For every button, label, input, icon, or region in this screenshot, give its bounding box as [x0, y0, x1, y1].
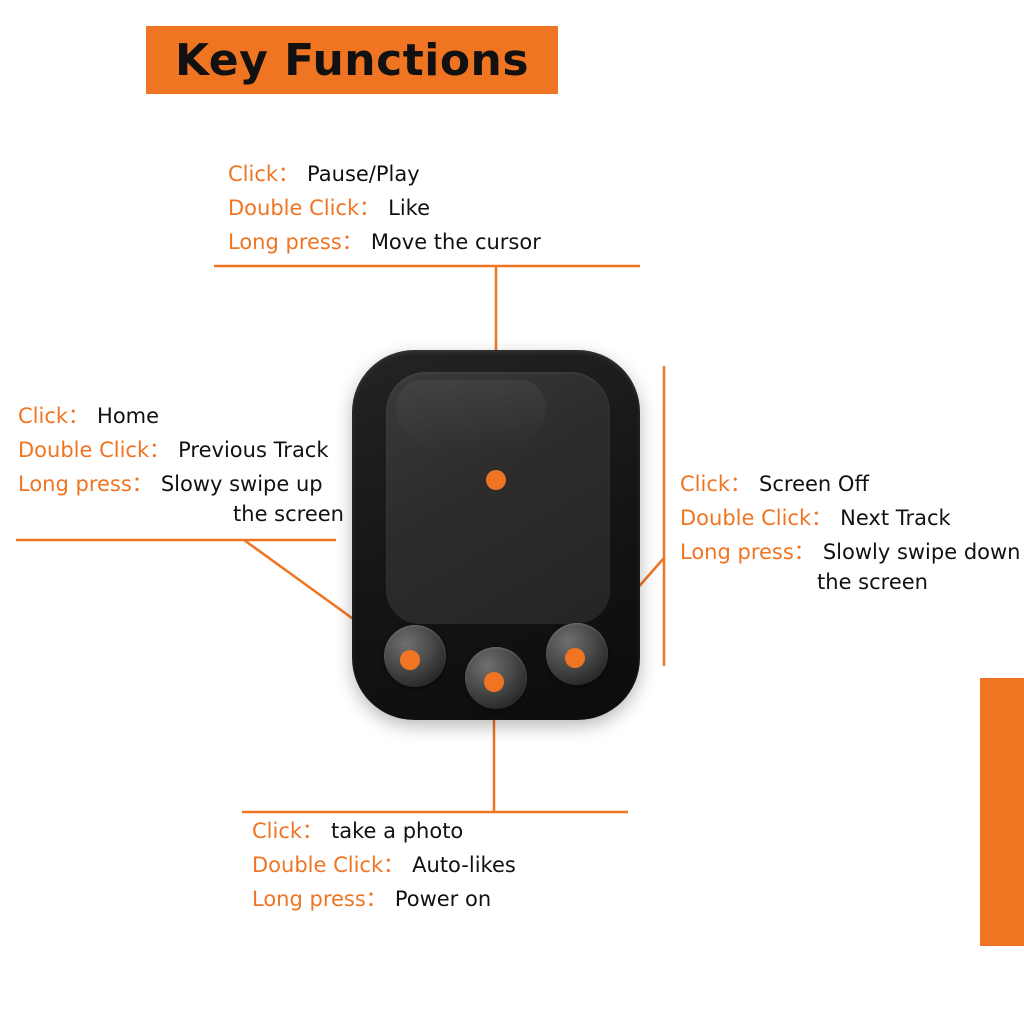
right-edge-accent-strip — [980, 678, 1024, 946]
touch-screen-area[interactable] — [386, 372, 610, 624]
bluetooth-remote-controller — [352, 350, 640, 720]
callout-value: Like — [388, 196, 430, 220]
touchpad-callout: Click： Pause/Play Double Click： Like Lon… — [228, 158, 541, 260]
callout-row: Long press： Slowy swipe up — [18, 468, 344, 498]
callout-label: Double Click： — [252, 849, 404, 879]
callout-row: Click： Screen Off — [680, 468, 1020, 498]
page-title-banner: Key Functions — [146, 26, 558, 94]
right-button-callout: Click： Screen Off Double Click： Next Tra… — [680, 468, 1020, 594]
callout-label: Click： — [228, 158, 299, 188]
callout-label: Double Click： — [18, 434, 170, 464]
callout-row: Click： Home — [18, 400, 344, 430]
left-button-callout: Click： Home Double Click： Previous Track… — [18, 400, 344, 526]
callout-label: Long press： — [18, 468, 153, 498]
callout-value: Next Track — [840, 506, 951, 530]
callout-row: Double Click： Next Track — [680, 502, 1020, 532]
callout-row: Long press： Move the cursor — [228, 226, 541, 256]
callout-value: Pause/Play — [307, 162, 420, 186]
callout-label: Click： — [252, 815, 323, 845]
left-button-anchor-dot — [400, 650, 420, 670]
callout-value: Home — [97, 404, 159, 428]
callout-label: Long press： — [680, 536, 815, 566]
callout-label: Click： — [680, 468, 751, 498]
right-button-anchor-dot — [565, 648, 585, 668]
middle-button-anchor-dot — [484, 672, 504, 692]
callout-label: Long press： — [228, 226, 363, 256]
callout-value: Move the cursor — [371, 230, 541, 254]
touchpad-anchor-dot — [486, 470, 506, 490]
callout-value: Auto-likes — [412, 853, 516, 877]
callout-label: Double Click： — [680, 502, 832, 532]
callout-row: Long press： Power on — [252, 883, 516, 913]
callout-value: Slowy swipe up — [161, 472, 323, 496]
callout-row: Click： take a photo — [252, 815, 516, 845]
callout-value: Previous Track — [178, 438, 328, 462]
middle-button-callout: Click： take a photo Double Click： Auto-l… — [252, 815, 516, 917]
callout-row: Double Click： Previous Track — [18, 434, 344, 464]
callout-label: Double Click： — [228, 192, 380, 222]
page-title: Key Functions — [175, 35, 529, 86]
callout-row: Double Click： Like — [228, 192, 541, 222]
callout-value-continuation: the screen — [680, 570, 928, 594]
callout-value: Slowly swipe down — [823, 540, 1021, 564]
callout-row: Double Click： Auto-likes — [252, 849, 516, 879]
callout-value: take a photo — [331, 819, 463, 843]
callout-row: Click： Pause/Play — [228, 158, 541, 188]
callout-row: Long press： Slowly swipe down — [680, 536, 1020, 566]
callout-label: Click： — [18, 400, 89, 430]
callout-value: Power on — [395, 887, 491, 911]
callout-value: Screen Off — [759, 472, 869, 496]
callout-label: Long press： — [252, 883, 387, 913]
callout-value-continuation: the screen — [18, 502, 344, 526]
